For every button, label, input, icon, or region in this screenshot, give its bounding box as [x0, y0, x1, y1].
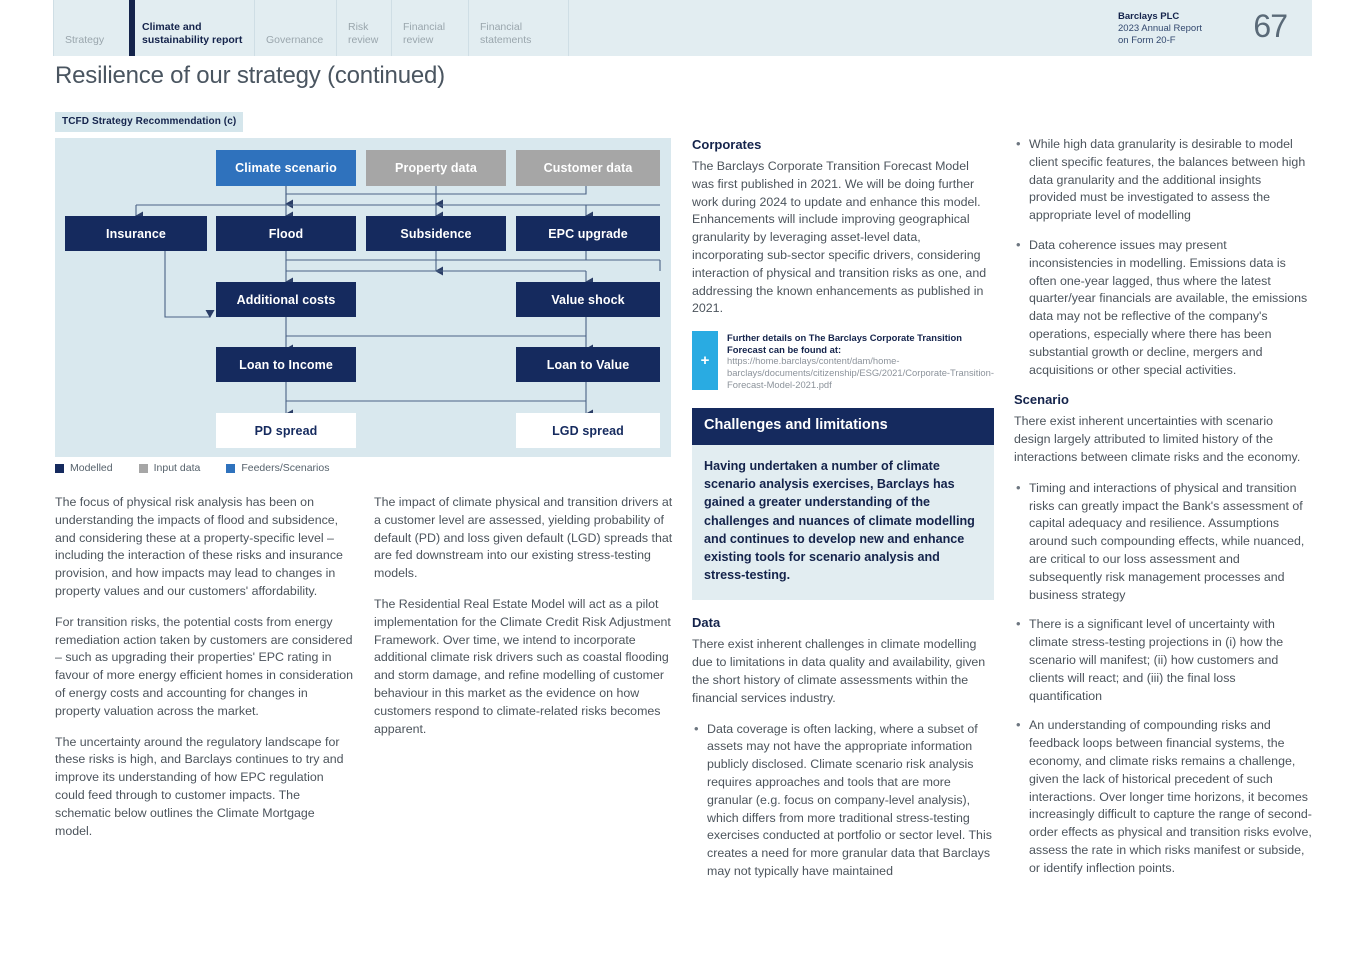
report-title-line-2: on Form 20-F [1118, 35, 1202, 47]
header-report-meta: Barclays PLC 2023 Annual Report on Form … [1118, 11, 1202, 47]
diagram-node-label: Subsidence [400, 227, 471, 241]
list-item: Data coherence issues may present incons… [1014, 237, 1312, 379]
legend-swatch-icon [139, 464, 148, 473]
body-column-left: The focus of physical risk analysis has … [55, 494, 355, 853]
diagram-node-label: PD spread [255, 424, 318, 438]
diagram-node-label: LGD spread [552, 424, 624, 438]
nav-tab-risk-review[interactable]: Risk review [336, 0, 391, 56]
diagram-node-subsidence: Subsidence [366, 216, 506, 251]
panel-title: Challenges and limitations [692, 408, 994, 445]
challenges-and-limitations-panel: Challenges and limitations Having undert… [692, 408, 994, 600]
diagram-node-label: Value shock [551, 293, 624, 307]
diagram-node-value-shock: Value shock [516, 282, 660, 317]
legend-swatch-icon [55, 464, 64, 473]
diagram-node-label: Loan to Value [547, 358, 630, 372]
nav-tab-label: Risk review [348, 21, 378, 46]
paragraph: There exist inherent uncertainties with … [1014, 413, 1312, 466]
diagram-node-label: Loan to Income [239, 358, 333, 372]
paragraph: The impact of climate physical and trans… [374, 494, 674, 583]
paragraph: The Residential Real Estate Model will a… [374, 596, 674, 738]
diagram-legend: Modelled Input data Feeders/Scenarios [55, 462, 355, 474]
data-bullet-list: Data coverage is often lacking, where a … [692, 721, 994, 881]
list-item: There is a significant level of uncertai… [1014, 616, 1312, 705]
diagram-node-label: Property data [395, 161, 477, 175]
diagram-node-label: Flood [269, 227, 304, 241]
data-bullet-list-continued: While high data granularity is desirable… [1014, 136, 1312, 379]
nav-tab-governance[interactable]: Governance [254, 0, 336, 56]
paragraph: The focus of physical risk analysis has … [55, 494, 355, 601]
diagram-node-property-data: Property data [366, 150, 506, 186]
page-header: Strategy Climate and sustainability repo… [53, 0, 1312, 56]
section-heading-corporates: Corporates [692, 136, 994, 153]
paragraph: The uncertainty around the regulatory la… [55, 734, 355, 841]
page-number: 67 [1253, 8, 1287, 45]
diagram-node-loan-to-value: Loan to Value [516, 347, 660, 382]
legend-item-modelled: Modelled [55, 462, 113, 474]
diagram-node-customer-data: Customer data [516, 150, 660, 186]
scenario-bullet-list: Timing and interactions of physical and … [1014, 480, 1312, 878]
report-title-line-1: 2023 Annual Report [1118, 23, 1202, 35]
nav-tab-label: Financial statements [480, 21, 531, 46]
diagram-node-epc-upgrade: EPC upgrade [516, 216, 660, 251]
nav-tab-financial-statements[interactable]: Financial statements [468, 0, 568, 56]
nav-tab-label: Financial review [403, 21, 445, 46]
nav-tab-label: Governance [266, 34, 323, 47]
plus-icon: + [692, 331, 718, 390]
legend-label: Feeders/Scenarios [241, 462, 329, 474]
paragraph: There exist inherent challenges in clima… [692, 636, 994, 707]
legend-swatch-icon [226, 464, 235, 473]
list-item: Data coverage is often lacking, where a … [692, 721, 994, 881]
callout-link-url[interactable]: https://home.barclays/content/dam/home-b… [727, 355, 994, 389]
legend-item-input-data: Input data [139, 462, 201, 474]
further-details-callout[interactable]: + Further details on The Barclays Corpor… [692, 331, 994, 390]
callout-text: Further details on The Barclays Corporat… [718, 331, 994, 390]
diagram-node-label: Customer data [544, 161, 633, 175]
diagram-node-climate-scenario: Climate scenario [216, 150, 356, 186]
climate-mortgage-model-diagram: Climate scenario Property data Customer … [55, 138, 671, 457]
diagram-node-label: Climate scenario [235, 161, 337, 175]
diagram-node-pd-spread: PD spread [216, 413, 356, 448]
body-column-right: While high data granularity is desirable… [1014, 136, 1312, 889]
nav-tab-financial-review[interactable]: Financial review [391, 0, 468, 56]
list-item: Timing and interactions of physical and … [1014, 480, 1312, 605]
nav-divider [568, 0, 569, 56]
paragraph: For transition risks, the potential cost… [55, 614, 355, 721]
callout-bold-text: Further details on The Barclays Corporat… [727, 332, 962, 355]
nav-tab-label: Strategy [65, 34, 104, 47]
tcfd-recommendation-badge: TCFD Strategy Recommendation (c) [55, 112, 243, 132]
diagram-node-additional-costs: Additional costs [216, 282, 356, 317]
legend-label: Modelled [70, 462, 113, 474]
diagram-node-label: Additional costs [237, 293, 336, 307]
list-item: While high data granularity is desirable… [1014, 136, 1312, 225]
panel-body-text: Having undertaken a number of climate sc… [692, 445, 994, 600]
paragraph: The Barclays Corporate Transition Foreca… [692, 158, 994, 318]
diagram-node-loan-to-income: Loan to Income [216, 347, 356, 382]
diagram-node-label: EPC upgrade [548, 227, 628, 241]
diagram-node-lgd-spread: LGD spread [516, 413, 660, 448]
diagram-node-flood: Flood [216, 216, 356, 251]
body-column-middle: Corporates The Barclays Corporate Transi… [692, 136, 994, 893]
diagram-node-label: Insurance [106, 227, 166, 241]
nav-tab-climate-and-sustainability-report[interactable]: Climate and sustainability report [129, 0, 254, 56]
legend-item-feeders-scenarios: Feeders/Scenarios [226, 462, 329, 474]
nav-tab-strategy[interactable]: Strategy [53, 0, 129, 56]
legend-label: Input data [154, 462, 201, 474]
page-title: Resilience of our strategy (continued) [55, 62, 445, 90]
nav-tab-label: Climate and sustainability report [142, 21, 242, 46]
body-column-left-2: The impact of climate physical and trans… [374, 494, 674, 751]
section-heading-data: Data [692, 614, 994, 631]
list-item: An understanding of compounding risks an… [1014, 717, 1312, 877]
section-heading-scenario: Scenario [1014, 391, 1312, 408]
diagram-node-insurance: Insurance [65, 216, 207, 251]
brand-name: Barclays PLC [1118, 11, 1202, 23]
